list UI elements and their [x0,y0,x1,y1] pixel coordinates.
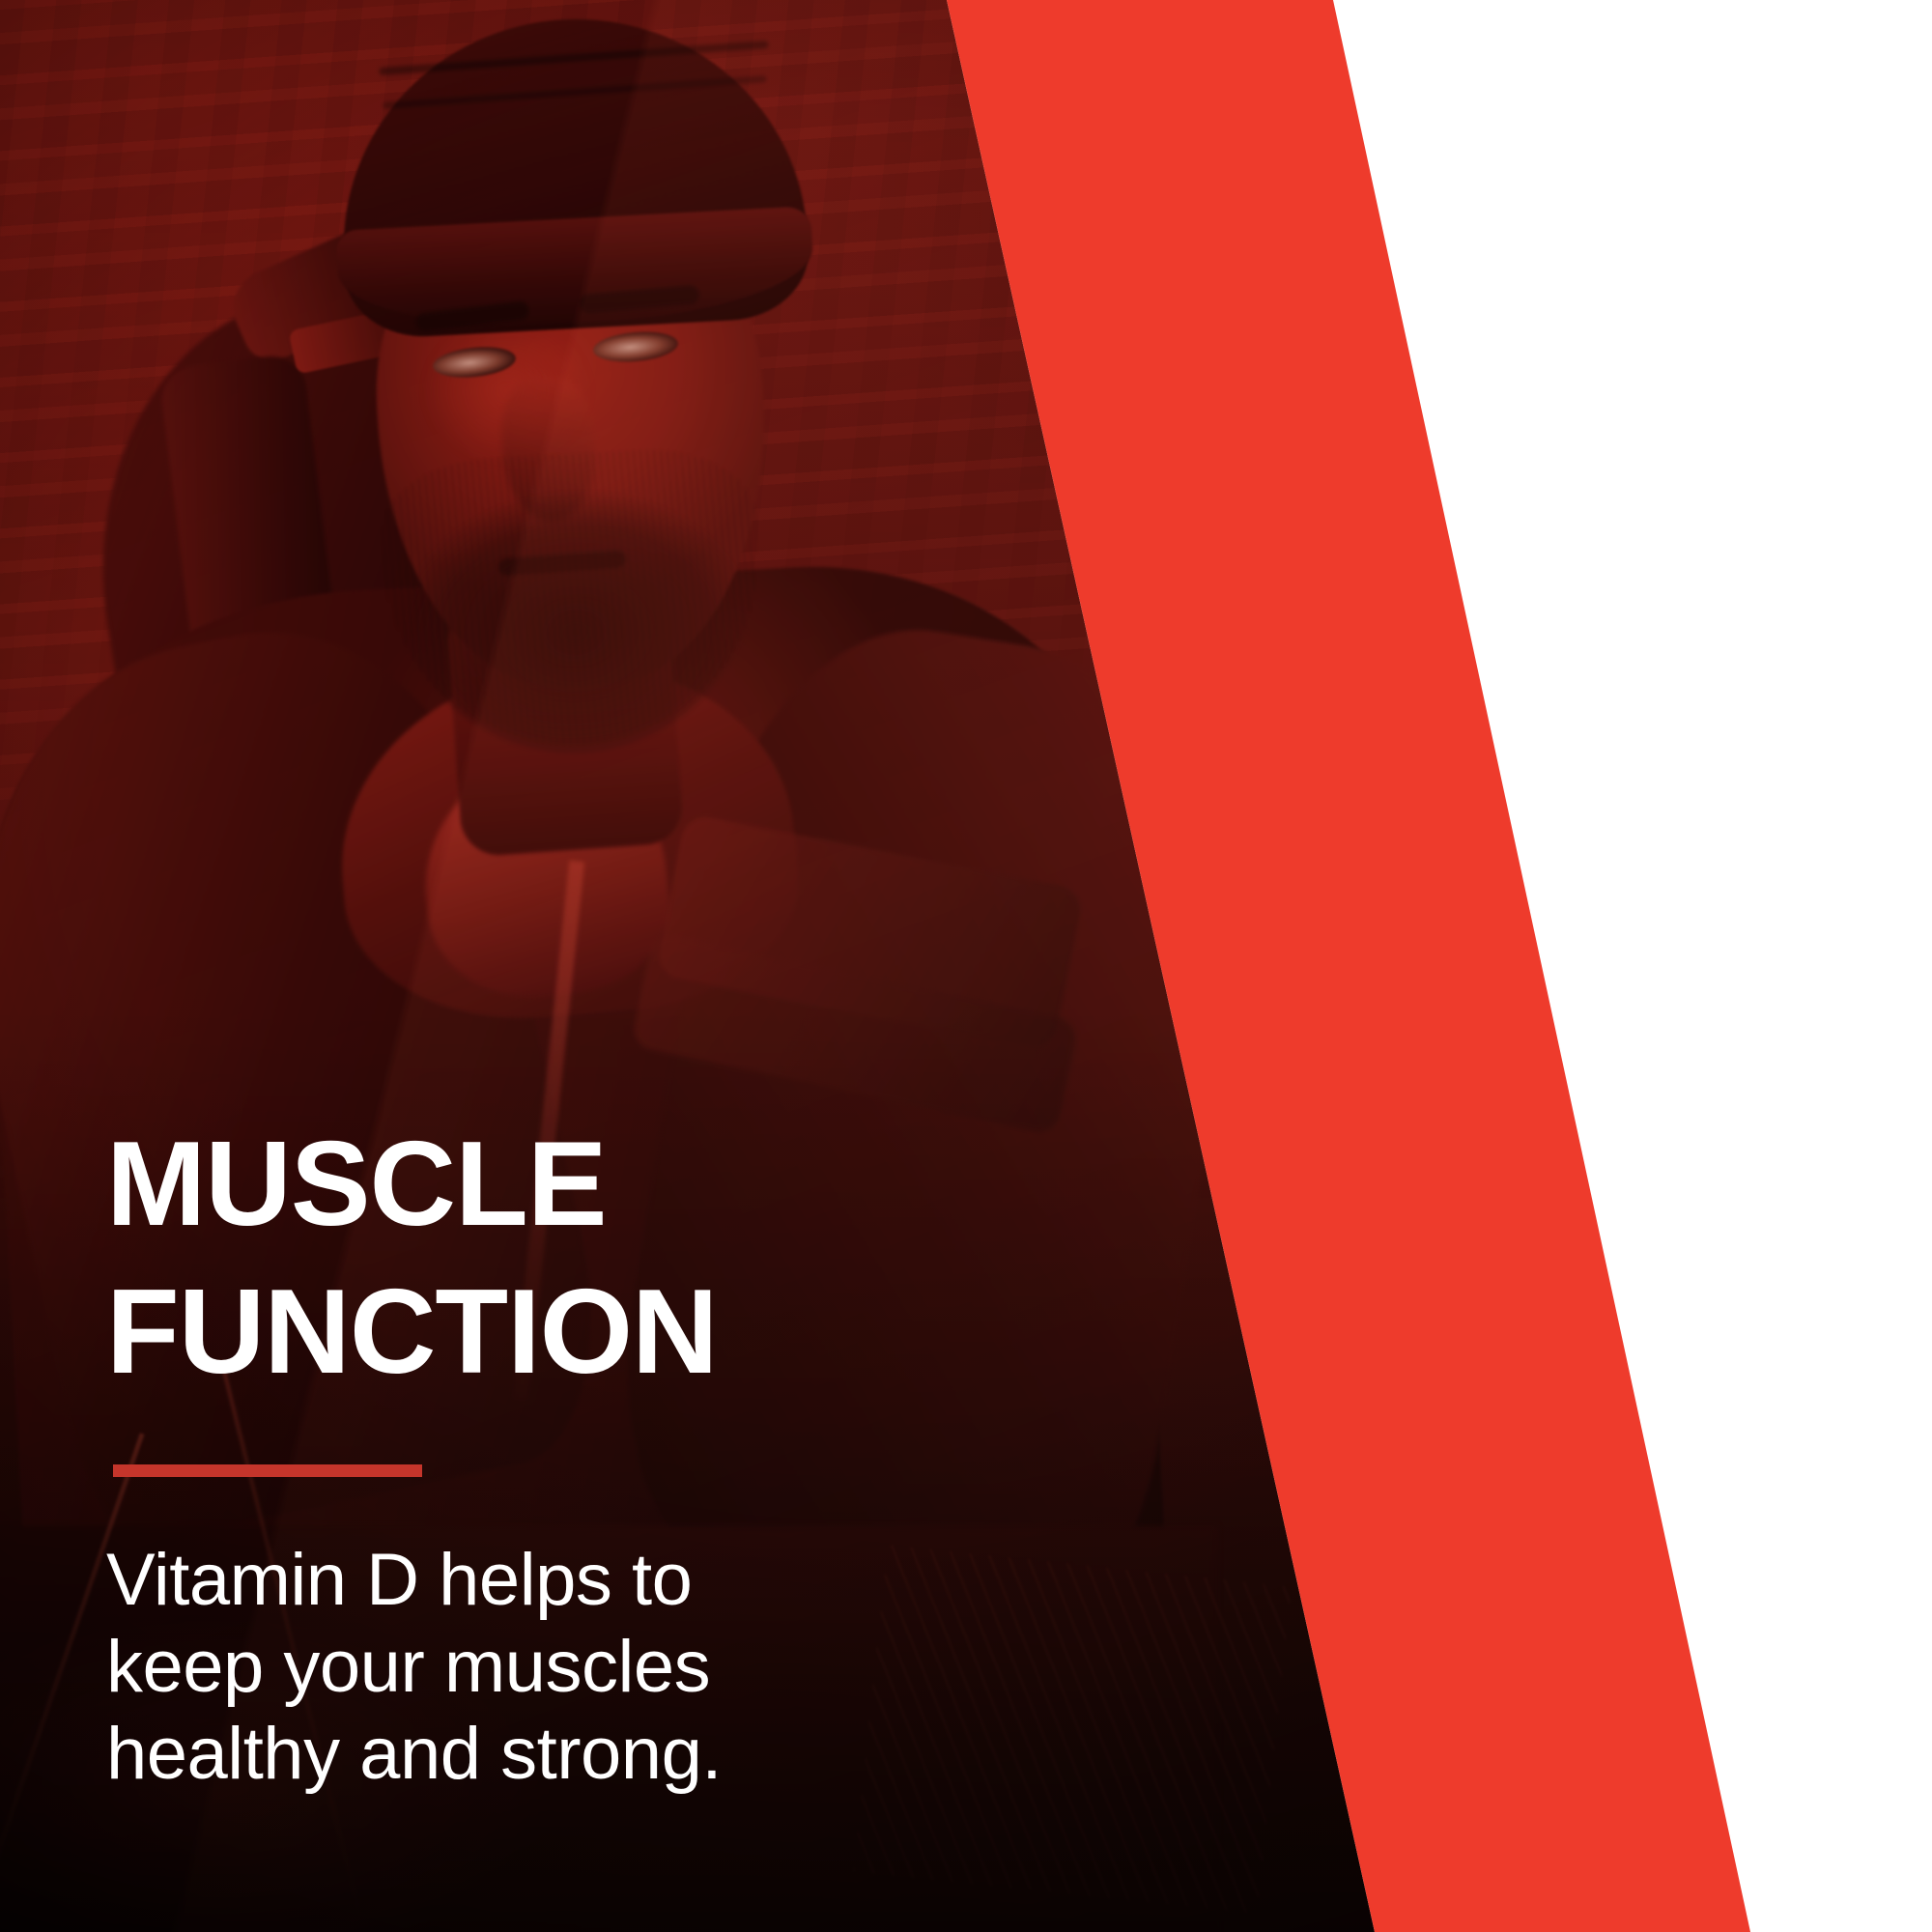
text-block: MUSCLE FUNCTION Vitamin D helps to keep … [106,1111,995,1798]
page-title: MUSCLE FUNCTION [106,1111,995,1406]
body-copy: Vitamin D helps to keep your muscles hea… [106,1537,840,1798]
poster-canvas: MUSCLE FUNCTION Vitamin D helps to keep … [0,0,1932,1932]
headline-line-1: MUSCLE [106,1111,995,1259]
title-divider-rule [113,1464,422,1477]
headline-line-2: FUNCTION [106,1259,995,1406]
